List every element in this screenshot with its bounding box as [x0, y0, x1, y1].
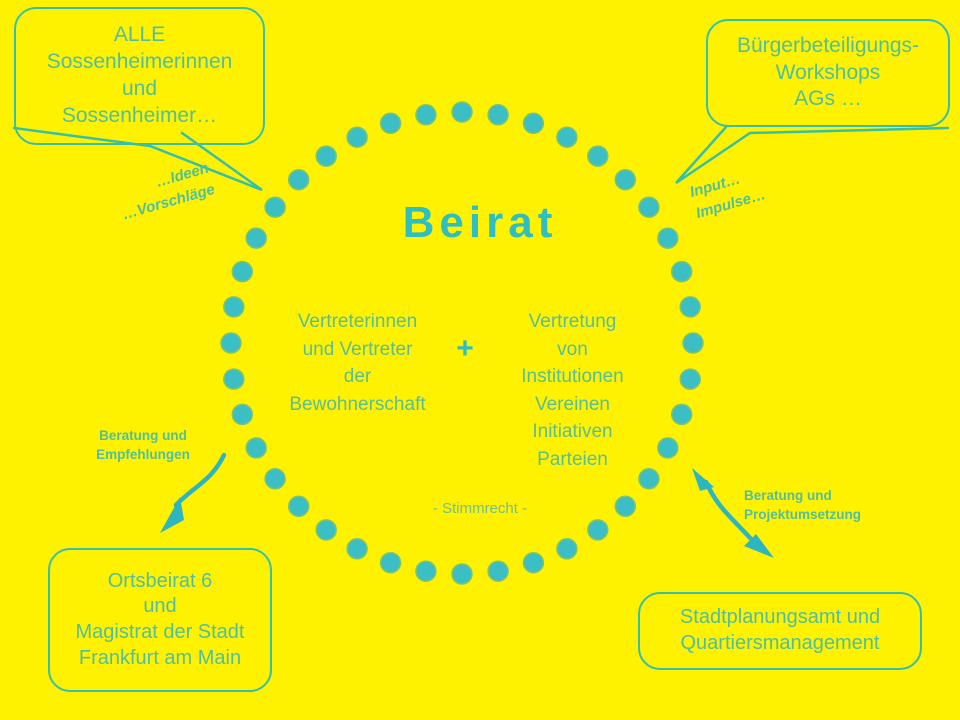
beirat-composition: Vertreterinnen und Vertreter der Bewohne…	[255, 308, 675, 473]
speech-box-citizen-participation[interactable]: Bürgerbeteiligungs- Workshops AGs …	[706, 19, 950, 127]
arrowhead-up-left	[692, 468, 714, 491]
box-stadtplanungsamt-quartiersmanagement[interactable]: Stadtplanungsamt und Quartiersmanagement	[638, 592, 922, 670]
composition-residents-representatives: Vertreterinnen und Vertreter der Bewohne…	[270, 308, 445, 418]
label-beratung-empfehlungen: Beratung und Empfehlungen	[78, 426, 208, 464]
box-ortsbeirat-magistrat[interactable]: Ortsbeirat 6 und Magistrat der Stadt Fra…	[48, 548, 272, 692]
composition-institutions-representation: Vertretung von Institutionen Vereinen In…	[485, 308, 660, 473]
label-beratung-projektumsetzung: Beratung und Projektumsetzung	[744, 486, 914, 524]
diagram-canvas: ALLE Sossenheimerinnen und Sossenheimer……	[0, 0, 960, 720]
speech-box-all-residents[interactable]: ALLE Sossenheimerinnen und Sossenheimer…	[14, 7, 265, 145]
plus-sign-icon: +	[445, 308, 485, 364]
